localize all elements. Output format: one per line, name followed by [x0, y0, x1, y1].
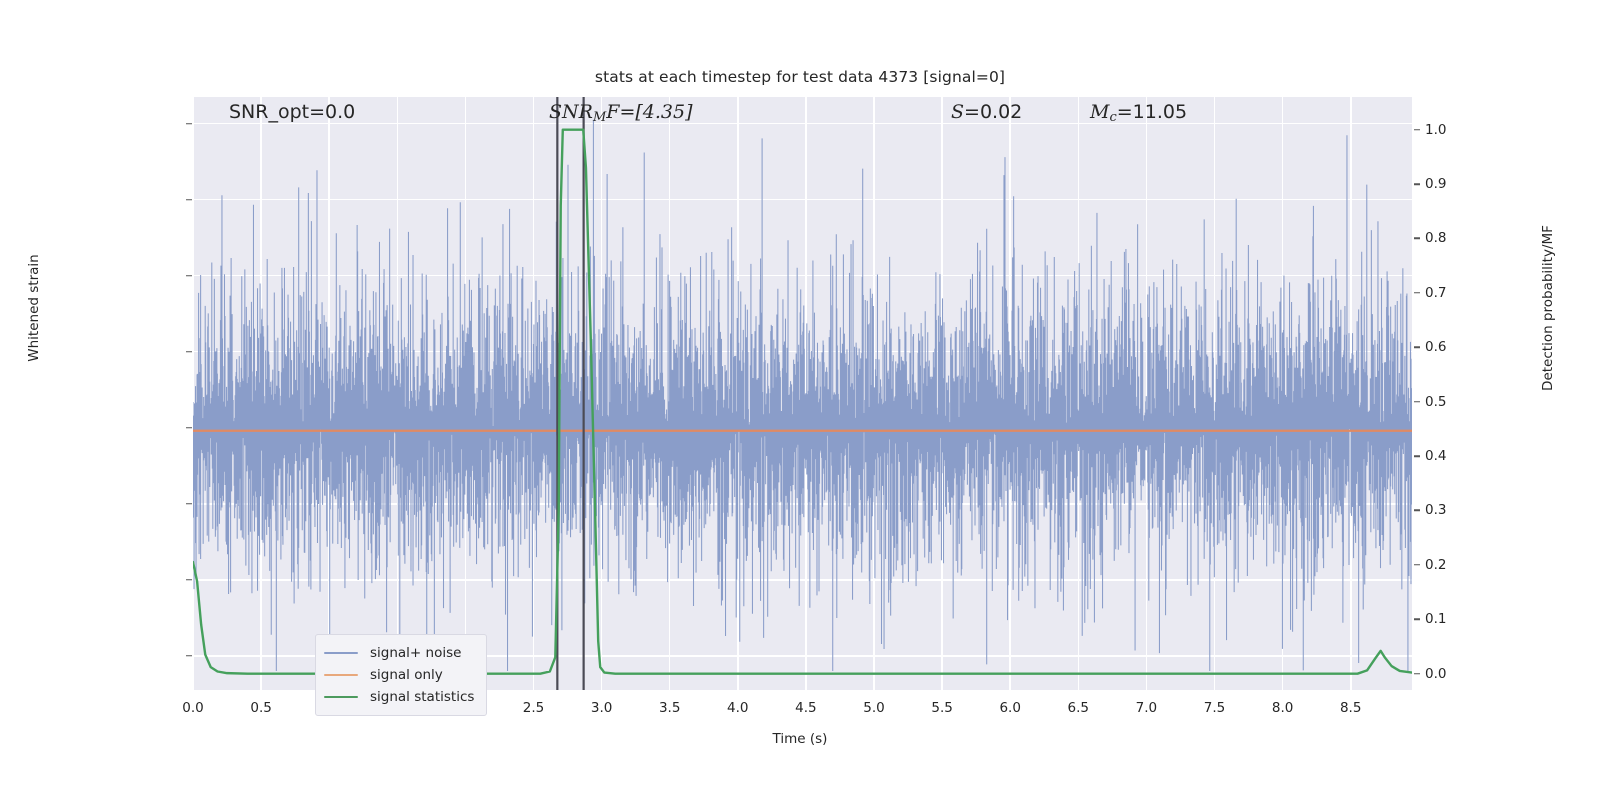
legend-label: signal only [370, 667, 443, 683]
y-tick-label-right: 0.2 [1425, 557, 1446, 573]
x-tick-label: 2.5 [523, 700, 544, 716]
annotation-mc-symbol: M [1090, 101, 1109, 123]
y-tick-label-right: 0.4 [1425, 448, 1446, 464]
annotation-s: S=0.02 [951, 101, 1022, 123]
annotation-s-symbol: S [951, 101, 964, 123]
y-tick-mark-right [1414, 673, 1420, 675]
y-tick-mark-right [1414, 129, 1420, 131]
legend-item[interactable]: signal statistics [324, 686, 474, 708]
x-tick-label: 4.5 [795, 700, 816, 716]
annotation-snr-mf-symbol: SNR [549, 101, 593, 123]
x-axis-label: Time (s) [0, 731, 1600, 747]
figure: stats at each timestep for test data 437… [0, 0, 1600, 800]
x-tick-label: 0.5 [250, 700, 271, 716]
y-tick-mark-left [186, 503, 192, 505]
legend-label: signal+ noise [370, 645, 461, 661]
y-tick-mark-right [1414, 455, 1420, 457]
annotation-mc-value: =11.05 [1117, 101, 1187, 123]
x-tick-label: 5.5 [931, 700, 952, 716]
noise-trace [193, 120, 1412, 671]
y-tick-mark-left [186, 351, 192, 353]
annotation-mc-subscript: c [1109, 110, 1116, 125]
y-tick-mark-left [186, 275, 192, 277]
x-tick-label: 7.0 [1136, 700, 1157, 716]
x-tick-label: 6.5 [1068, 700, 1089, 716]
annotation-snr-mf-subscript: M [593, 110, 606, 125]
y-tick-label-right: 0.3 [1425, 502, 1446, 518]
legend-color-swatch [324, 696, 358, 698]
y-tick-label-right: 0.1 [1425, 611, 1446, 627]
annotation-snr-mf-value: F=[4.35] [606, 101, 692, 123]
annotation-s-value: =0.02 [964, 101, 1022, 123]
y-tick-label-right: 1.0 [1425, 122, 1446, 138]
y-tick-mark-right [1414, 401, 1420, 403]
y-tick-label-right: 0.5 [1425, 394, 1446, 410]
y-tick-mark-right [1414, 183, 1420, 185]
y-tick-mark-right [1414, 292, 1420, 294]
y-tick-mark-left [186, 655, 192, 657]
annotation-mc: Mc=11.05 [1090, 101, 1187, 125]
y-tick-mark-left [186, 579, 192, 581]
y-tick-mark-right [1414, 347, 1420, 349]
y-tick-mark-right [1414, 510, 1420, 512]
y-tick-mark-right [1414, 238, 1420, 240]
y-axis-label-left: Whitened strain [26, 108, 42, 508]
y-tick-label-right: 0.8 [1425, 230, 1446, 246]
x-tick-label: 4.0 [727, 700, 748, 716]
chart-legend[interactable]: signal+ noisesignal onlysignal statistic… [315, 634, 487, 716]
y-tick-mark-right [1414, 564, 1420, 566]
x-tick-label: 6.0 [999, 700, 1020, 716]
x-tick-label: 8.5 [1340, 700, 1361, 716]
plot-axes: SNR_opt=0.0 SNRMF=[4.35] S=0.02 Mc=11.05 [193, 97, 1412, 690]
y-tick-label-right: 0.7 [1425, 285, 1446, 301]
x-tick-label: 3.0 [591, 700, 612, 716]
y-tick-mark-right [1414, 619, 1420, 621]
x-tick-label: 3.5 [659, 700, 680, 716]
annotation-snr-mf: SNRMF=[4.35] [549, 101, 693, 125]
y-tick-label-right: 0.6 [1425, 339, 1446, 355]
legend-color-swatch [324, 652, 358, 654]
y-tick-mark-left [186, 199, 192, 201]
x-tick-label: 0.0 [182, 700, 203, 716]
y-tick-label-right: 0.9 [1425, 176, 1446, 192]
x-tick-label: 5.0 [863, 700, 884, 716]
x-tick-label: 7.5 [1204, 700, 1225, 716]
series-signal-noise [193, 120, 1412, 671]
legend-item[interactable]: signal only [324, 664, 474, 686]
legend-color-swatch [324, 674, 358, 676]
y-axis-label-right: Detection probability/MF [1540, 108, 1556, 508]
chart-title: stats at each timestep for test data 437… [0, 68, 1600, 86]
plot-canvas [193, 97, 1412, 690]
x-tick-label: 8.0 [1272, 700, 1293, 716]
annotation-snr-opt: SNR_opt=0.0 [229, 101, 355, 123]
legend-label: signal statistics [370, 689, 474, 705]
y-tick-label-right: 0.0 [1425, 666, 1446, 682]
y-tick-mark-left [186, 427, 192, 429]
y-tick-mark-left [186, 123, 192, 125]
legend-item[interactable]: signal+ noise [324, 642, 474, 664]
